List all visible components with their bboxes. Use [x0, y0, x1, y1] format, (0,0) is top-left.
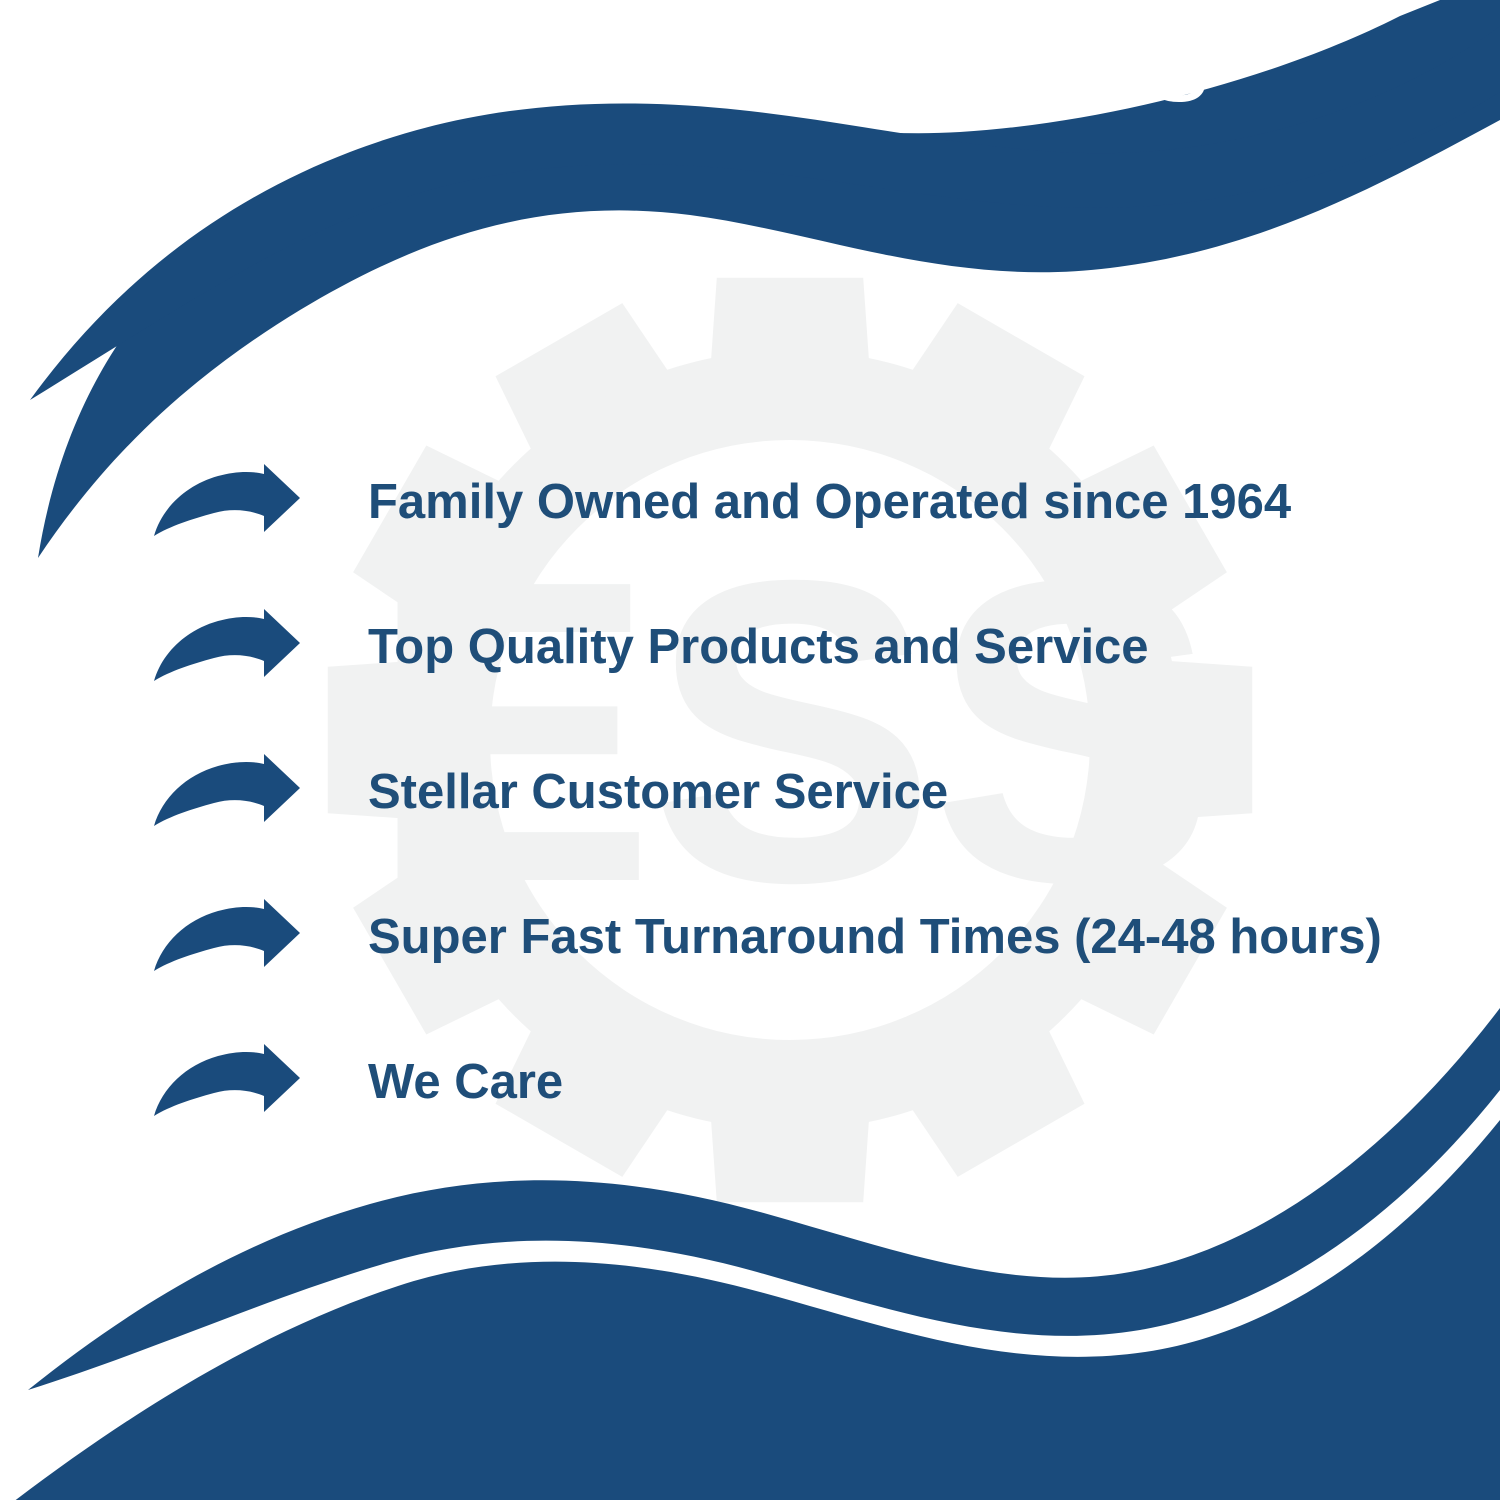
curved-arrow-right-icon — [152, 464, 300, 542]
list-item-label: Stellar Customer Service — [368, 766, 948, 820]
list-item-label: We Care — [368, 1056, 563, 1110]
curved-arrow-right-icon — [152, 609, 300, 687]
list-item-label: Super Fast Turnaround Times (24-48 hours… — [368, 911, 1382, 965]
curved-arrow-right-icon — [152, 899, 300, 977]
curved-arrow-right-icon — [152, 1044, 300, 1122]
list-item: Top Quality Products and Service — [0, 575, 1500, 720]
list-item-label: Family Owned and Operated since 1964 — [368, 476, 1291, 530]
list-item: Stellar Customer Service — [0, 720, 1500, 865]
list-item-label: Top Quality Products and Service — [368, 621, 1149, 675]
list-item: Super Fast Turnaround Times (24-48 hours… — [0, 865, 1500, 1010]
benefits-list: Family Owned and Operated since 1964 Top… — [0, 430, 1500, 1155]
list-item: We Care — [0, 1010, 1500, 1155]
page-title: WHY SHOP WITH US — [0, 22, 1500, 119]
promo-graphic: ESS WHY SHOP WITH US Family Owned and Op… — [0, 0, 1500, 1500]
curved-arrow-right-icon — [152, 754, 300, 832]
bottom-navy-band — [0, 1120, 1500, 1500]
gear-tooth — [709, 278, 871, 389]
list-item: Family Owned and Operated since 1964 — [0, 430, 1500, 575]
